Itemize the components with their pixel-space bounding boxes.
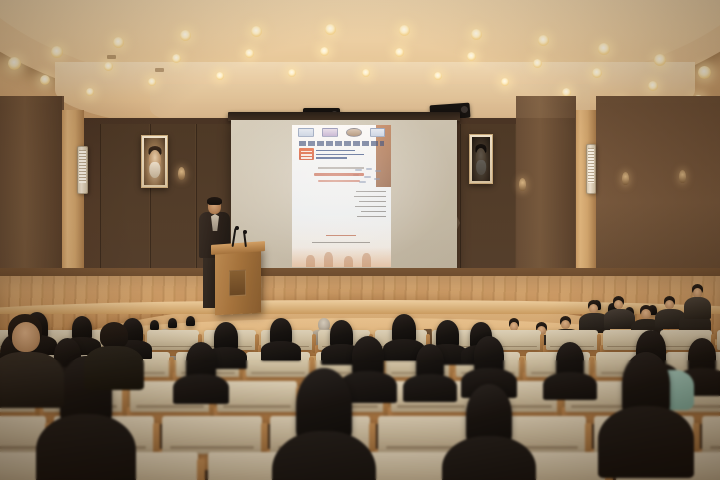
wall-speaker-right bbox=[586, 144, 596, 194]
wall-sconce-right-1 bbox=[622, 172, 629, 185]
map-dot bbox=[355, 169, 362, 171]
ceiling-downlight-12 bbox=[698, 66, 711, 79]
ceiling-downlight-10 bbox=[598, 43, 610, 55]
ceiling-downlight-1 bbox=[8, 57, 21, 70]
ceiling-downlight-22 bbox=[648, 81, 658, 91]
ceiling-downlight-11 bbox=[654, 54, 666, 66]
ceiling-downlight-21 bbox=[592, 68, 602, 78]
ceiling-downlight-5 bbox=[251, 26, 262, 37]
audience-standing-man-body bbox=[684, 297, 711, 319]
audience-seat-arm-r5-c2 bbox=[197, 459, 205, 480]
ceiling-downlight-19 bbox=[467, 52, 476, 61]
poster-map-dots bbox=[352, 167, 384, 186]
presenter-glasses-icon bbox=[209, 204, 220, 207]
audience-person-far-2 bbox=[168, 318, 177, 328]
audience-foreground-man2-body bbox=[84, 346, 144, 390]
audience-man-head-2 bbox=[614, 300, 623, 309]
ceiling-downlight-16 bbox=[245, 49, 254, 58]
poster-speaker-name bbox=[314, 173, 364, 176]
poster-footer-address bbox=[312, 242, 370, 243]
title-line bbox=[316, 154, 364, 156]
poster-subtitle-rule bbox=[318, 167, 364, 169]
wall-sconce-right-2 bbox=[679, 170, 686, 183]
ceiling-downlight-28 bbox=[362, 69, 370, 77]
audience-foreground-man2-hair bbox=[100, 322, 128, 348]
poster-figure bbox=[362, 253, 371, 267]
poster-logo-4-icon bbox=[370, 128, 386, 137]
microphone-head-2-icon bbox=[243, 230, 247, 234]
ceiling-downlight-24 bbox=[86, 88, 94, 96]
lectern-body bbox=[215, 247, 261, 315]
lectern-front-panel bbox=[229, 270, 246, 297]
ceiling-downlight-29 bbox=[434, 72, 442, 80]
poster-persian-title bbox=[299, 141, 385, 146]
speaker-grille bbox=[79, 150, 86, 183]
portrait-beard bbox=[476, 160, 486, 175]
audience-man-head-1 bbox=[589, 304, 598, 313]
audience-person-far-3 bbox=[186, 316, 195, 326]
map-dot bbox=[374, 178, 380, 180]
framed-portrait-left bbox=[141, 135, 168, 188]
poster-figure bbox=[344, 256, 353, 268]
poster-logo-2-icon bbox=[322, 128, 338, 137]
poster-logo-3-icon bbox=[346, 128, 362, 137]
title-line bbox=[316, 150, 355, 152]
audience-seat-r3-c4 bbox=[217, 381, 297, 412]
badge-line bbox=[301, 157, 312, 159]
audience-foreground-man-body bbox=[0, 352, 64, 408]
portrait-beard bbox=[149, 162, 160, 178]
ceiling-downlight-9 bbox=[538, 35, 549, 46]
title-line bbox=[316, 157, 347, 159]
poster-logo-1-icon bbox=[298, 128, 314, 137]
wall-sconce-left bbox=[178, 167, 185, 180]
poster-date-badge bbox=[299, 148, 314, 160]
ceiling-downlight-17 bbox=[320, 47, 329, 56]
audience-shoulders-rowB-7 bbox=[543, 372, 597, 400]
audience-shoulders-rowA-5 bbox=[261, 341, 301, 361]
wall-speaker-left bbox=[77, 146, 88, 194]
ceiling-vent-1 bbox=[107, 55, 116, 59]
audience-man-head-6 bbox=[561, 320, 570, 329]
map-dot bbox=[366, 168, 372, 170]
portrait-canvas bbox=[472, 137, 490, 181]
microphone-head-1-icon bbox=[235, 226, 239, 230]
audience-shoulders-rowB-5 bbox=[403, 374, 457, 402]
audience-shoulders-rowB-3 bbox=[173, 374, 229, 404]
ceiling-downlight-13 bbox=[40, 75, 50, 85]
wall-sconce-center bbox=[519, 178, 526, 191]
ceiling-downlight-7 bbox=[399, 25, 410, 36]
list-line bbox=[361, 211, 385, 212]
audience-shoulders-front-4 bbox=[598, 406, 694, 478]
audience-shoulders-front-1 bbox=[36, 414, 136, 480]
ceiling-downlight-20 bbox=[533, 59, 542, 68]
poster-figure bbox=[324, 252, 333, 268]
audience-seat-r4-c8 bbox=[702, 416, 720, 454]
poster-english-title bbox=[316, 148, 366, 160]
auditorium-photo bbox=[0, 0, 720, 480]
slide-poster bbox=[292, 125, 391, 268]
ceiling-downlight-26 bbox=[216, 72, 224, 80]
badge-line bbox=[301, 151, 312, 153]
ceiling-downlight-14 bbox=[104, 62, 113, 71]
poster-figure bbox=[306, 255, 315, 268]
poster-logo-row bbox=[298, 127, 386, 137]
ceiling-downlight-25 bbox=[148, 78, 156, 86]
map-dot bbox=[359, 181, 366, 183]
map-dot bbox=[375, 170, 381, 172]
ceiling-downlight-30 bbox=[501, 78, 509, 86]
ceiling-downlight-2 bbox=[51, 46, 63, 58]
ceiling-downlight-27 bbox=[288, 69, 296, 77]
poster-footer-date bbox=[326, 235, 356, 237]
list-line bbox=[357, 216, 385, 217]
speaker-grille bbox=[588, 148, 594, 183]
audience-seat-r4-c3 bbox=[162, 416, 262, 454]
poster-committee-list bbox=[352, 190, 386, 221]
ceiling-downlight-3 bbox=[113, 37, 124, 48]
ceiling-downlight-6 bbox=[325, 24, 336, 35]
framed-portrait-right bbox=[469, 134, 493, 184]
ceiling-vent-2 bbox=[155, 68, 164, 72]
ceiling-downlight-8 bbox=[471, 29, 482, 40]
ceiling-downlight-18 bbox=[395, 48, 404, 57]
list-line bbox=[356, 191, 385, 192]
audience-man-head-4 bbox=[665, 300, 674, 309]
ceiling-downlight-4 bbox=[180, 30, 191, 41]
ceiling-downlight-15 bbox=[172, 54, 181, 63]
poster-bottom-artwork bbox=[292, 247, 391, 267]
audience-person-far-1 bbox=[150, 320, 159, 330]
audience-man-head-3 bbox=[641, 309, 651, 319]
list-line bbox=[354, 196, 386, 197]
projector-lens-icon bbox=[461, 106, 468, 113]
badge-line bbox=[301, 154, 312, 156]
portrait-canvas bbox=[144, 138, 165, 185]
audience-foreground-man-head bbox=[12, 322, 40, 352]
list-line bbox=[355, 206, 385, 207]
map-dot bbox=[364, 176, 372, 178]
list-line bbox=[359, 201, 385, 202]
